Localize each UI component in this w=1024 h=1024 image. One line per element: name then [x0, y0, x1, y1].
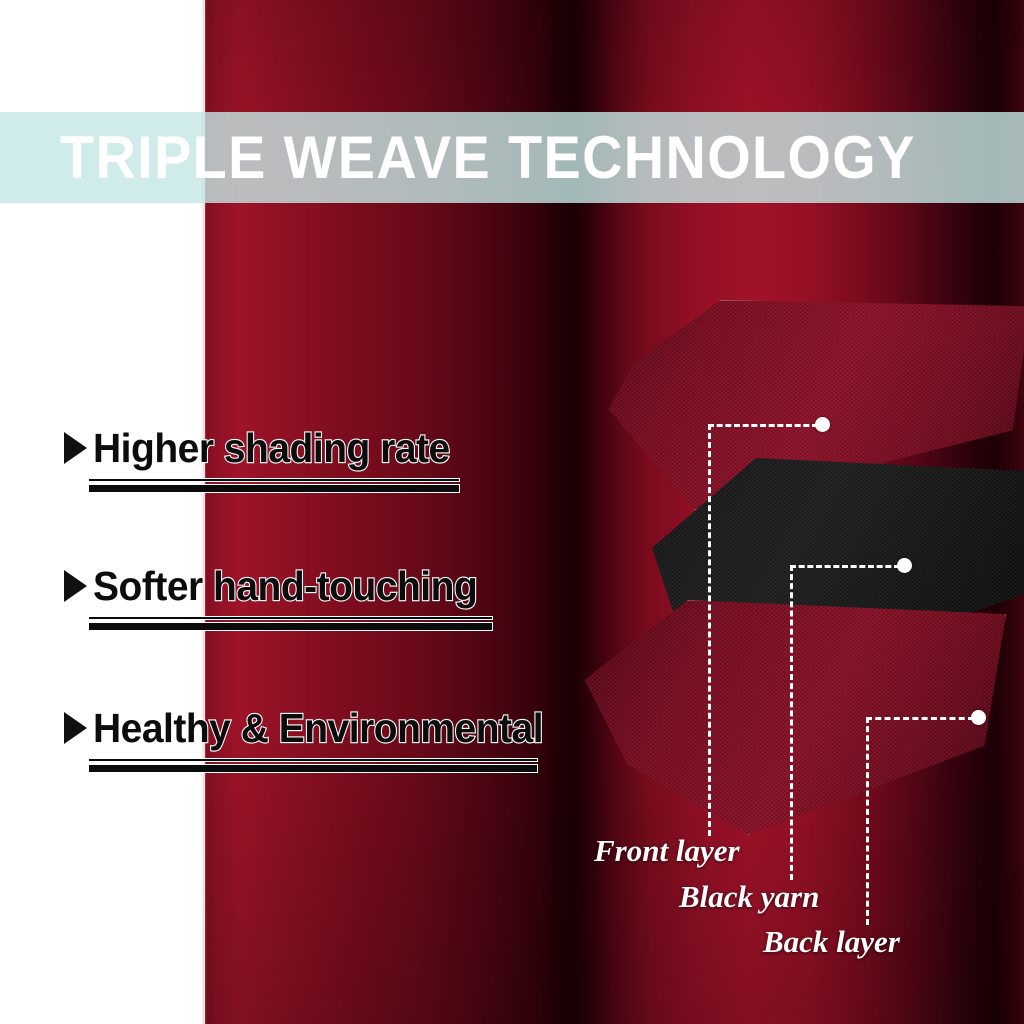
underline-thin	[88, 478, 460, 482]
feature-label-3: Healthy & Environmental	[93, 705, 543, 751]
feature-row-1: Higher shading rate	[64, 425, 469, 471]
underline-thin	[88, 616, 493, 620]
feature-underline-3	[88, 758, 567, 773]
feature-row-2: Softer hand-touching	[64, 563, 498, 609]
feature-label-1: Higher shading rate	[93, 425, 450, 471]
callout-line-front-v	[708, 424, 711, 836]
feature-underline-1	[88, 478, 469, 493]
triangle-bullet-icon	[64, 432, 87, 464]
layer-label-front: Front layer	[594, 833, 740, 869]
feature-item-1: Higher shading rate	[64, 425, 469, 493]
product-feature-image: TRIPLE WEAVE TECHNOLOGY Higher shading r…	[0, 0, 1024, 1024]
callout-line-black-v	[790, 565, 793, 880]
triangle-bullet-icon	[64, 712, 87, 744]
callout-line-back-v	[866, 717, 869, 925]
callout-line-black-h	[790, 565, 900, 568]
underline-thick	[88, 764, 538, 773]
feature-label-2: Softer hand-touching	[93, 563, 477, 609]
fabric-layer-diagram	[600, 290, 1024, 850]
callout-line-back-h	[866, 717, 974, 720]
feature-row-3: Healthy & Environmental	[64, 705, 567, 751]
triangle-bullet-icon	[64, 570, 87, 602]
layer-label-back: Back layer	[763, 924, 900, 960]
headline-title: TRIPLE WEAVE TECHNOLOGY	[60, 112, 957, 203]
feature-item-3: Healthy & Environmental	[64, 705, 567, 773]
underline-thin	[88, 758, 538, 762]
underline-thick	[88, 622, 493, 631]
layer-label-black-yarn: Black yarn	[679, 879, 819, 915]
callout-line-front-h	[708, 424, 818, 427]
feature-underline-2	[88, 616, 498, 631]
feature-item-2: Softer hand-touching	[64, 563, 498, 631]
underline-thick	[88, 484, 460, 493]
